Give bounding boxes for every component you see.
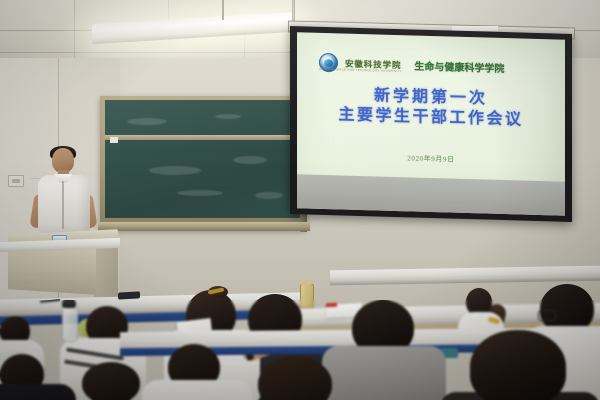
thermos-cap — [300, 280, 312, 285]
slide-date: 2020年9月9日 — [297, 150, 565, 167]
student-head — [82, 362, 140, 400]
papers-red-marker — [326, 303, 337, 308]
student-torso — [322, 346, 446, 400]
chalk-piece — [110, 137, 118, 143]
department-name: 生命与健康科学学院 — [414, 58, 504, 76]
projected-slide: 安徽科技学院 生命与健康科学学院 ANHUI SCIENCE AND TECHN… — [297, 32, 565, 181]
smartphone-on-desk — [118, 291, 140, 299]
light-hanger — [222, 0, 224, 20]
presenter-shirt — [38, 175, 90, 233]
student-head — [470, 330, 566, 400]
student-torso — [0, 384, 76, 400]
slide-title: 新学期第一次 主要学生干部工作会议 — [297, 84, 565, 131]
water-bottle-cap — [62, 300, 76, 308]
chalkboard-slider-rail — [105, 135, 301, 140]
wall-power-outlet — [8, 175, 24, 187]
presenter-shirt-placket — [62, 181, 64, 229]
slide-header: 安徽科技学院 生命与健康科学学院 — [319, 53, 547, 78]
eyeglasses-icon — [538, 310, 556, 321]
thermos-cup — [300, 284, 314, 308]
chalkboard-ledge — [98, 222, 310, 231]
student-torso — [142, 380, 252, 400]
water-bottle — [62, 306, 78, 342]
lecture-hall-photo: 安徽科技学院 生命与健康科学学院 ANHUI SCIENCE AND TECHN… — [0, 0, 600, 400]
green-chalkboard — [105, 100, 301, 218]
